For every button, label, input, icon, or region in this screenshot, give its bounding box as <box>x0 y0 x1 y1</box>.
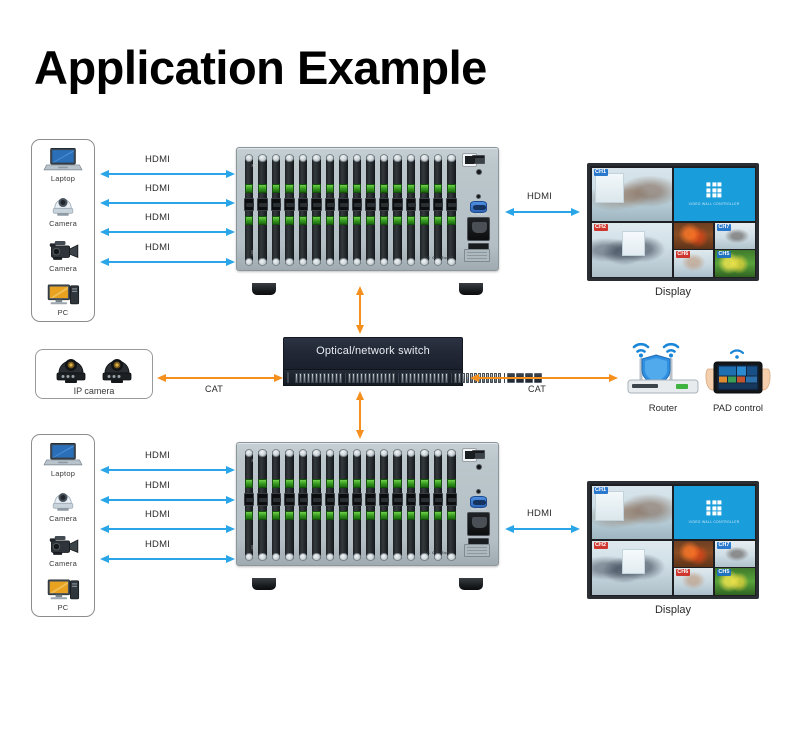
port-group <box>345 373 396 383</box>
application-example-diagram: Application Example Laptop Camera <box>0 0 800 735</box>
rj45-port <box>295 373 298 383</box>
video-tile-logo[interactable]: VIDEO WALL CONTROLLER <box>674 168 755 222</box>
card-slot[interactable] <box>364 449 378 561</box>
chassis-foot <box>252 578 276 590</box>
source-item-camera-ptz[interactable]: Camera <box>32 191 94 228</box>
ir-jack-icon <box>476 169 482 175</box>
rj45-port <box>409 373 412 383</box>
rj45-port <box>462 373 465 383</box>
source-device-panel-bottom: Laptop Camera Camera <box>31 434 95 617</box>
hdmi-port-icon <box>271 198 282 211</box>
rj45-port <box>315 373 318 383</box>
switch-front-panel <box>283 369 463 386</box>
ip-camera-label: IP camera <box>74 386 115 396</box>
matrix-chassis-bottom[interactable]: INOUT <box>236 442 499 579</box>
bidirectional-arrow-vertical <box>355 286 365 334</box>
hdmi-port-icon <box>352 493 363 506</box>
card-slot[interactable] <box>310 449 324 561</box>
hdmi-port-icon <box>284 198 295 211</box>
card-slot[interactable]: INOUT <box>242 154 256 266</box>
card-top-label: IN <box>246 459 253 462</box>
rj45-port <box>356 373 359 383</box>
card-slot[interactable] <box>323 449 337 561</box>
hdmi-link-bottom-1: HDMI <box>100 462 235 480</box>
reset-button-icon <box>476 489 481 494</box>
rj45-port <box>327 373 330 383</box>
bidirectional-arrow <box>100 227 235 237</box>
cat-link-left: CAT <box>157 370 283 388</box>
rj45-port <box>380 373 383 383</box>
video-tile[interactable]: CH7 <box>715 541 755 567</box>
rj45-port <box>466 373 469 383</box>
bidirectional-arrow <box>100 495 235 505</box>
source-item-pc[interactable]: PC <box>32 280 94 317</box>
switch-title: Optical/network switch <box>283 345 463 357</box>
card-slot[interactable] <box>350 154 364 266</box>
card-slot[interactable] <box>377 154 391 266</box>
link-label: HDMI <box>145 509 170 520</box>
source-item-label: Laptop <box>51 175 75 183</box>
card-slot[interactable] <box>296 154 310 266</box>
rj45-port <box>319 373 322 383</box>
hdmi-port-icon <box>311 198 322 211</box>
rj45-port <box>348 373 351 383</box>
video-tile[interactable]: CH5 <box>715 568 755 594</box>
hdmi-link-top-output: HDMI <box>505 204 580 222</box>
channel-badge: CH5 <box>717 569 731 576</box>
grid-logo-icon <box>707 182 722 197</box>
channel-badge: CH5 <box>717 251 731 258</box>
desktop-pc-icon <box>43 280 83 308</box>
display-label: Display <box>587 604 759 616</box>
card-slot[interactable] <box>445 449 459 561</box>
rj45-port <box>299 373 302 383</box>
camcorder-icon <box>43 531 83 559</box>
hdmi-port-icon <box>325 198 336 211</box>
source-item-label: PC <box>58 604 69 612</box>
video-wall-grid: CH1 VIDEO WALL CONTROLLER CH2 CH7 <box>587 481 759 599</box>
card-slot[interactable] <box>350 449 364 561</box>
rj45-port <box>339 373 342 383</box>
rj45-port <box>335 373 338 383</box>
hdmi-port-icon <box>379 198 390 211</box>
rj45-port <box>413 373 416 383</box>
ip-camera-row <box>54 354 134 384</box>
video-tile[interactable]: CH5 <box>715 250 755 276</box>
bidirectional-arrow <box>100 257 235 267</box>
rj45-port <box>458 373 461 383</box>
laptop-icon <box>43 146 83 174</box>
hdmi-link-bottom-output: HDMI <box>505 521 580 539</box>
video-tile[interactable] <box>674 541 714 567</box>
hdmi-link-top-1: HDMI <box>100 166 235 184</box>
link-label: CAT <box>205 384 223 394</box>
card-top-label: IN <box>246 164 253 167</box>
card-slot-row: INOUT <box>242 449 458 561</box>
hdmi-port-icon <box>379 493 390 506</box>
rj45-port <box>388 373 391 383</box>
hdmi-link-top-4: HDMI <box>100 254 235 272</box>
hdmi-port-icon <box>271 493 282 506</box>
channel-badge: CH7 <box>717 542 731 549</box>
ip-camera-panel[interactable]: IP camera <box>35 349 153 399</box>
port-group <box>293 373 343 383</box>
bidirectional-arrow-vertical <box>355 391 365 439</box>
rj45-port <box>433 373 436 383</box>
rj45-port <box>311 373 314 383</box>
hdmi-link-top-2: HDMI <box>100 195 235 213</box>
rj45-port <box>441 373 444 383</box>
card-slot[interactable] <box>269 154 283 266</box>
ptz-ip-camera-icon <box>100 354 134 384</box>
channel-badge: CH2 <box>594 224 608 231</box>
logo-caption: VIDEO WALL CONTROLLER <box>674 202 755 206</box>
hdmi-port-icon <box>433 198 444 211</box>
card-slot[interactable] <box>364 154 378 266</box>
hdmi-link-top-3: HDMI <box>100 224 235 242</box>
rj45-port <box>360 373 363 383</box>
rj45-port <box>303 373 306 383</box>
card-slot-row: INOUT <box>242 154 458 266</box>
hdmi-port-icon <box>392 198 403 211</box>
hdmi-port-icon <box>419 198 430 211</box>
card-slot[interactable] <box>391 449 405 561</box>
channel-badge: CH6 <box>676 569 690 576</box>
source-item-camera-camcorder[interactable]: Camera <box>32 236 94 273</box>
video-tile[interactable]: CH1 <box>592 486 673 540</box>
router-label: Router <box>620 403 706 414</box>
source-item-laptop[interactable]: Laptop <box>32 146 94 183</box>
hdmi-port-icon <box>406 198 417 211</box>
video-wall-bottom[interactable]: CH1 VIDEO WALL CONTROLLER CH2 CH7 <box>587 481 759 616</box>
pad-control-label: PAD control <box>700 403 776 414</box>
card-slot[interactable] <box>256 449 270 561</box>
rj45-port <box>417 373 420 383</box>
link-label: HDMI <box>145 480 170 491</box>
hdmi-port-icon <box>446 198 457 211</box>
hdmi-link-bottom-2: HDMI <box>100 492 235 510</box>
bidirectional-arrow <box>100 524 235 534</box>
card-bottom-label: OUT <box>246 250 253 256</box>
video-tile[interactable]: CH6 <box>674 250 714 276</box>
card-slot[interactable] <box>445 154 459 266</box>
source-item-label: Camera <box>49 220 77 228</box>
rj45-port <box>307 373 310 383</box>
channel-badge: CH1 <box>594 169 608 176</box>
ac-power-inlet-icon <box>467 217 490 241</box>
bidirectional-arrow <box>100 554 235 564</box>
reset-button-icon <box>476 194 481 199</box>
card-slot[interactable] <box>310 154 324 266</box>
channel-badge: CH7 <box>717 224 731 231</box>
link-label: HDMI <box>145 183 170 194</box>
hdmi-port-icon <box>257 493 268 506</box>
source-item-camera-camcorder[interactable]: Camera <box>32 531 94 568</box>
hdmi-port-icon <box>365 198 376 211</box>
link-label: HDMI <box>145 539 170 550</box>
rj45-port <box>376 373 379 383</box>
ac-power-inlet-icon <box>467 512 490 536</box>
link-label: HDMI <box>145 242 170 253</box>
video-tile[interactable]: CH6 <box>674 568 714 594</box>
cat-link-right: CAT <box>470 370 618 388</box>
rj45-port <box>392 373 395 383</box>
cat-link-bottom-vertical <box>355 391 365 444</box>
card-slot[interactable]: INOUT <box>242 449 256 561</box>
desktop-pc-icon <box>43 575 83 603</box>
wifi-router-icon <box>620 338 706 398</box>
management-port-icon <box>287 372 289 383</box>
rj45-port <box>323 373 326 383</box>
rj45-port <box>405 373 408 383</box>
card-slot[interactable] <box>431 154 445 266</box>
vent-plate <box>464 544 490 557</box>
hdmi-port-icon <box>325 493 336 506</box>
card-slot[interactable] <box>337 154 351 266</box>
hdmi-port-icon <box>298 493 309 506</box>
chassis-foot <box>252 283 276 295</box>
source-item-pc[interactable]: PC <box>32 575 94 612</box>
card-bottom-label: OUT <box>246 545 253 551</box>
hdmi-port-icon <box>284 493 295 506</box>
vga-port-icon <box>470 496 487 508</box>
hdmi-link-bottom-3: HDMI <box>100 521 235 539</box>
link-label: HDMI <box>145 212 170 223</box>
chassis-foot <box>459 578 483 590</box>
card-slot[interactable] <box>269 449 283 561</box>
channel-badge: CH2 <box>594 542 608 549</box>
ptz-dome-camera-icon <box>43 486 83 514</box>
rj45-port <box>384 373 387 383</box>
card-slot[interactable] <box>404 449 418 561</box>
card-slot[interactable] <box>337 449 351 561</box>
card-slot[interactable] <box>418 154 432 266</box>
bidirectional-arrow <box>505 524 580 534</box>
hdmi-port-icon <box>352 198 363 211</box>
rj45-port <box>372 373 375 383</box>
pad-control-device[interactable]: PAD control <box>700 345 776 414</box>
card-slot[interactable] <box>283 154 297 266</box>
hdmi-port-icon <box>433 493 444 506</box>
channel-badge: CH1 <box>594 487 608 494</box>
vga-port-icon <box>470 201 487 213</box>
bidirectional-arrow <box>100 169 235 179</box>
source-item-label: Camera <box>49 515 77 523</box>
rj45-port <box>331 373 334 383</box>
hdmi-port-icon <box>244 493 255 506</box>
hdmi-port-icon <box>419 493 430 506</box>
matrix-chassis-top[interactable]: INOUT <box>236 147 499 284</box>
vent-plate <box>464 249 490 262</box>
rj45-port <box>368 373 371 383</box>
bidirectional-arrow <box>100 198 235 208</box>
source-item-camera-ptz[interactable]: Camera <box>32 486 94 523</box>
rj45-port <box>421 373 424 383</box>
card-slot[interactable] <box>431 449 445 561</box>
tablet-in-hands-icon <box>700 345 776 398</box>
card-slot[interactable] <box>418 449 432 561</box>
rj45-port <box>425 373 428 383</box>
bidirectional-arrow <box>100 465 235 475</box>
card-slot[interactable] <box>296 449 310 561</box>
optical-network-switch[interactable]: Optical/network switch <box>283 337 463 387</box>
port-group <box>398 373 449 383</box>
video-tile[interactable]: CH7 <box>715 223 755 249</box>
display-label: Display <box>587 286 759 298</box>
hdmi-port-icon <box>406 493 417 506</box>
source-device-panel-top: Laptop Camera Camera <box>31 139 95 322</box>
rj45-port <box>401 373 404 383</box>
rj45-port <box>437 373 440 383</box>
camcorder-icon <box>43 236 83 264</box>
source-item-label: PC <box>58 309 69 317</box>
ptz-dome-camera-icon <box>43 191 83 219</box>
rj45-port <box>352 373 355 383</box>
source-item-label: Camera <box>49 265 77 273</box>
source-item-label: Camera <box>49 560 77 568</box>
channel-badge: CH6 <box>676 251 690 258</box>
bidirectional-arrow <box>505 207 580 217</box>
cat-link-top-vertical <box>355 286 365 339</box>
hdmi-port-icon <box>257 198 268 211</box>
page-title: Application Example <box>34 44 487 91</box>
source-item-laptop[interactable]: Laptop <box>32 441 94 478</box>
source-item-label: Laptop <box>51 470 75 478</box>
rj45-port <box>445 373 448 383</box>
hdmi-port-icon <box>298 198 309 211</box>
hdmi-port-icon <box>311 493 322 506</box>
card-slot[interactable] <box>256 154 270 266</box>
card-slot[interactable] <box>283 449 297 561</box>
link-label: HDMI <box>145 154 170 165</box>
link-label: HDMI <box>527 191 552 202</box>
video-wall-top[interactable]: CH1 VIDEO WALL CONTROLLER CH2 CH7 <box>587 163 759 298</box>
rj45-port <box>429 373 432 383</box>
laptop-icon <box>43 441 83 469</box>
chassis-foot <box>459 283 483 295</box>
video-tile-logo[interactable]: VIDEO WALL CONTROLLER <box>674 486 755 540</box>
card-slot[interactable] <box>323 154 337 266</box>
bidirectional-arrow <box>157 373 283 383</box>
logo-caption: VIDEO WALL CONTROLLER <box>674 520 755 524</box>
ir-jack-icon <box>476 464 482 470</box>
link-label: HDMI <box>527 508 552 519</box>
link-label: CAT <box>528 384 546 394</box>
video-wall-grid: CH1 VIDEO WALL CONTROLLER CH2 CH7 <box>587 163 759 281</box>
ptz-ip-camera-icon <box>54 354 88 384</box>
hdmi-port-icon <box>338 493 349 506</box>
router-device[interactable]: Router <box>620 338 706 414</box>
rj45-port <box>454 373 457 383</box>
video-tile[interactable] <box>674 223 714 249</box>
rj45-port <box>364 373 367 383</box>
hdmi-link-bottom-4: HDMI <box>100 551 235 569</box>
grid-logo-icon <box>707 500 722 515</box>
bidirectional-arrow <box>470 373 618 383</box>
hdmi-port-icon <box>446 493 457 506</box>
card-slot[interactable] <box>391 154 405 266</box>
video-tile[interactable]: CH2 <box>592 223 673 277</box>
hdmi-port-icon <box>365 493 376 506</box>
hdmi-port-icon <box>338 198 349 211</box>
card-slot[interactable] <box>404 154 418 266</box>
hdmi-port-icon <box>392 493 403 506</box>
video-tile[interactable]: CH2 <box>592 541 673 595</box>
video-tile[interactable]: CH1 <box>592 168 673 222</box>
hdmi-port-icon <box>244 198 255 211</box>
link-label: HDMI <box>145 450 170 461</box>
card-slot[interactable] <box>377 449 391 561</box>
